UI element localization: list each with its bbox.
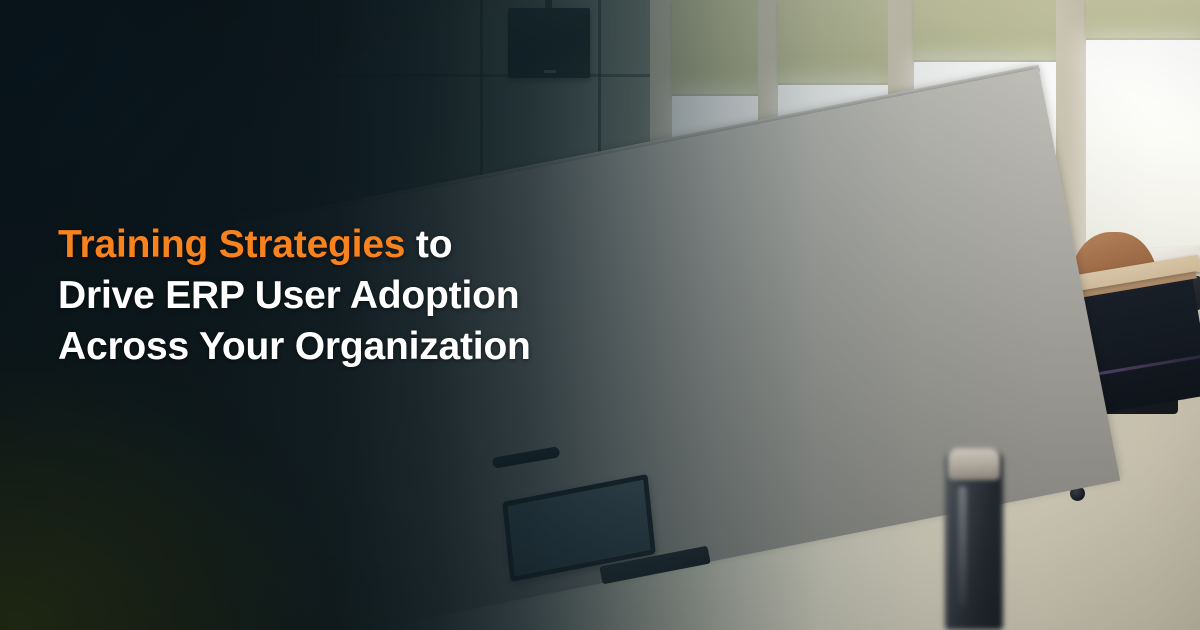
headline-line-1: Training Strategies to [58,219,578,270]
hero-banner: Training Strategies to Drive ERP User Ad… [0,0,1200,630]
headline-line-3: Across Your Organization [58,321,578,372]
headline-block: Training Strategies to Drive ERP User Ad… [58,219,578,372]
headline-accent-text: Training Strategies [58,223,405,266]
headline-line-1-rest: to [405,223,452,266]
headline-line-2: Drive ERP User Adoption [58,270,578,321]
